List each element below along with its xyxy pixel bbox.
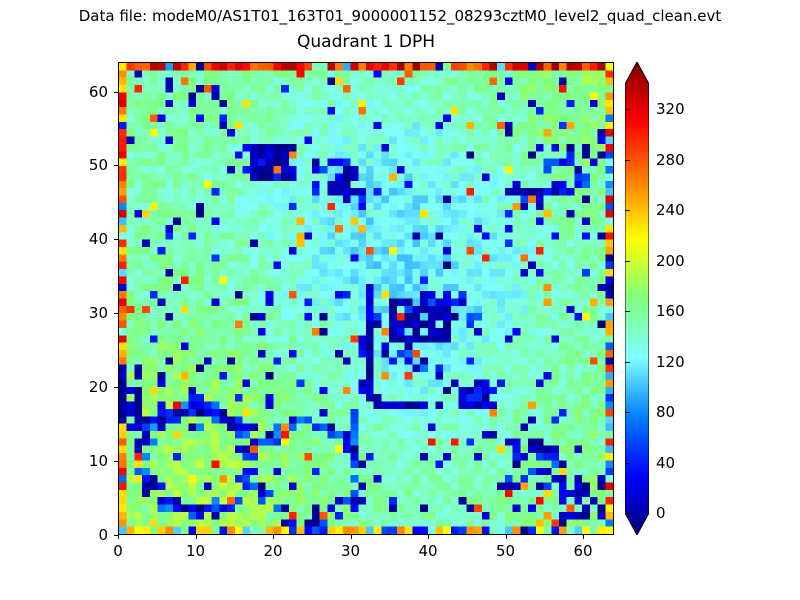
x-tick-mark [583, 535, 584, 539]
colorbar-tick-mark [625, 109, 630, 110]
colorbar-tick-mark [625, 362, 630, 363]
colorbar-tick-mark [625, 261, 630, 262]
colorbar-tick-label: 120 [656, 353, 685, 371]
y-tick-label: 50 [48, 156, 108, 174]
colorbar-tick-label: 240 [656, 201, 685, 219]
x-tick-mark [196, 535, 197, 539]
colorbar-tick-label: 320 [656, 100, 685, 118]
colorbar-gradient [625, 62, 649, 535]
heatmap-image[interactable] [119, 63, 613, 534]
y-tick-label: 0 [48, 526, 108, 544]
x-tick-label: 0 [88, 542, 148, 560]
y-tick-mark [114, 313, 118, 314]
x-tick-label: 20 [243, 542, 303, 560]
x-tick-mark [273, 535, 274, 539]
y-tick-label: 10 [48, 452, 108, 470]
y-tick-mark [114, 387, 118, 388]
colorbar-tick-mark [625, 463, 630, 464]
x-tick-mark [118, 535, 119, 539]
y-tick-mark [114, 461, 118, 462]
colorbar-tick-mark [625, 412, 630, 413]
colorbar-tick-mark [625, 160, 630, 161]
x-tick-mark [351, 535, 352, 539]
y-tick-label: 20 [48, 378, 108, 396]
x-tick-label: 50 [476, 542, 536, 560]
colorbar-tick-label: 40 [656, 454, 675, 472]
matplotlib-figure: Data file: modeM0/AS1T01_163T01_90000011… [0, 0, 800, 600]
x-tick-label: 30 [321, 542, 381, 560]
colorbar-tick-label: 280 [656, 151, 685, 169]
x-tick-mark [428, 535, 429, 539]
x-tick-label: 60 [553, 542, 613, 560]
y-tick-label: 60 [48, 83, 108, 101]
plot-title: Quadrant 1 DPH [118, 32, 614, 52]
x-tick-mark [506, 535, 507, 539]
x-tick-label: 10 [166, 542, 226, 560]
colorbar-tick-mark [625, 513, 630, 514]
y-tick-mark [114, 165, 118, 166]
x-tick-label: 40 [398, 542, 458, 560]
y-tick-mark [114, 239, 118, 240]
colorbar[interactable] [625, 62, 649, 535]
colorbar-tick-label: 200 [656, 252, 685, 270]
colorbar-tick-label: 80 [656, 403, 675, 421]
colorbar-tick-label: 160 [656, 302, 685, 320]
data-file-title: Data file: modeM0/AS1T01_163T01_90000011… [0, 7, 800, 25]
colorbar-tick-mark [625, 210, 630, 211]
heatmap-axes[interactable] [118, 62, 614, 535]
colorbar-tick-label: 0 [656, 504, 666, 522]
y-tick-label: 30 [48, 304, 108, 322]
y-tick-label: 40 [48, 230, 108, 248]
colorbar-tick-mark [625, 311, 630, 312]
y-tick-mark [114, 535, 118, 536]
y-tick-mark [114, 92, 118, 93]
